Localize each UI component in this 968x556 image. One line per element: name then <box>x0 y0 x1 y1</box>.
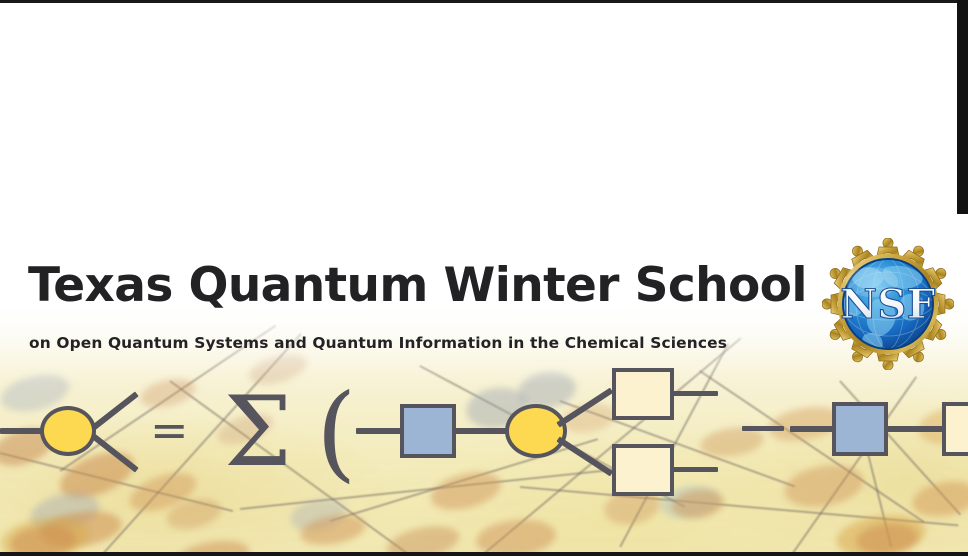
tn-node-ellipse <box>505 404 567 458</box>
sum-symbol: Σ <box>224 384 292 480</box>
tn-node-square-cream <box>942 402 968 456</box>
tn-node-square-blue <box>400 404 456 458</box>
equals-symbol: = <box>150 407 189 453</box>
tn-node-square-cream <box>612 368 674 420</box>
tn-wire <box>672 467 718 472</box>
tn-node-square-blue <box>832 402 888 456</box>
tn-node-ellipse <box>40 406 96 456</box>
tn-wire-diagonal-up <box>556 388 613 428</box>
page-title: Texas Quantum Winter School <box>28 258 807 313</box>
nsf-wordmark: NSF <box>840 281 935 328</box>
tn-wire <box>886 426 944 432</box>
bottom-edge-rule <box>0 552 968 556</box>
tn-wire-diagonal-down <box>556 436 613 476</box>
top-edge-rule <box>0 0 968 3</box>
nsf-logo: NSF <box>822 238 954 370</box>
tn-wire <box>790 426 834 432</box>
right-edge-strip <box>957 0 968 214</box>
minus-symbol <box>742 426 784 431</box>
tn-wire <box>672 391 718 396</box>
tn-wire <box>356 428 402 434</box>
page-subtitle: on Open Quantum Systems and Quantum Info… <box>29 334 727 352</box>
tn-node-square-cream <box>612 444 674 496</box>
tn-wire <box>454 428 508 434</box>
open-paren-symbol: ( <box>316 380 357 484</box>
presentation-slide: = Σ ( Texas Quantum Winter School on Ope… <box>0 0 968 556</box>
